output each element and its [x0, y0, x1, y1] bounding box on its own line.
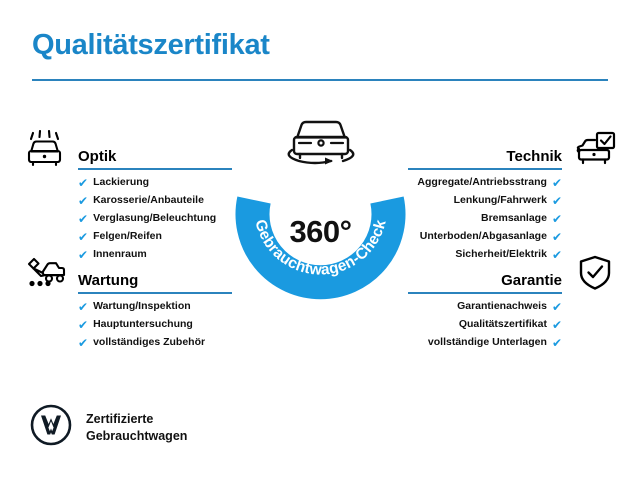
section-garantie-header: Garantie — [408, 252, 618, 294]
check-icon: ✔ — [78, 195, 88, 207]
check-icon: ✔ — [78, 301, 88, 313]
shield-check-icon — [572, 253, 618, 293]
list-item-label: Aggregate/Antriebsstrang — [417, 177, 547, 188]
section-garantie-list: Garantienachweis✔ Qualitätszertifikat✔ v… — [408, 301, 618, 349]
check-icon: ✔ — [78, 231, 88, 243]
list-item-label: Felgen/Reifen — [93, 231, 162, 242]
footer-line-2: Gebrauchtwagen — [86, 428, 187, 445]
section-garantie-divider — [408, 292, 562, 294]
list-item-label: Verglasung/Beleuchtung — [93, 213, 216, 224]
list-item: Lenkung/Fahrwerk✔ — [408, 195, 562, 207]
section-technik-title: Technik — [506, 149, 562, 169]
check-icon: ✔ — [552, 231, 562, 243]
list-item-label: Garantienachweis — [457, 301, 547, 312]
certificate-page: Qualitätszertifikat — [0, 0, 640, 480]
list-item: vollständige Unterlagen✔ — [408, 337, 562, 349]
check-icon: ✔ — [552, 301, 562, 313]
section-optik-list: ✔Lackierung ✔Karosserie/Anbauteile ✔Verg… — [22, 177, 232, 261]
section-optik-header: Optik — [22, 128, 232, 170]
section-garantie-title: Garantie — [501, 273, 562, 293]
list-item: Bremsanlage✔ — [408, 213, 562, 225]
check-icon: ✔ — [78, 319, 88, 331]
section-technik-divider — [408, 168, 562, 170]
header: Qualitätszertifikat — [32, 30, 608, 81]
section-optik-divider — [78, 168, 232, 170]
section-wartung-list: ✔Wartung/Inspektion ✔Hauptuntersuchung ✔… — [22, 301, 232, 349]
list-item: ✔Karosserie/Anbauteile — [78, 195, 232, 207]
list-item: ✔Verglasung/Beleuchtung — [78, 213, 232, 225]
list-item-label: vollständige Unterlagen — [428, 337, 547, 348]
section-wartung-title: Wartung — [78, 273, 232, 293]
list-item-label: vollständiges Zubehör — [93, 337, 205, 348]
list-item-label: Unterboden/Abgasanlage — [420, 231, 547, 242]
vw-logo-icon — [30, 404, 72, 451]
list-item: ✔Wartung/Inspektion — [78, 301, 232, 313]
list-item: ✔Felgen/Reifen — [78, 231, 232, 243]
car-shine-icon — [22, 129, 68, 169]
section-wartung: Wartung ✔Wartung/Inspektion ✔Hauptunters… — [22, 252, 232, 355]
section-technik-list: Aggregate/Antriebsstrang✔ Lenkung/Fahrwe… — [408, 177, 618, 261]
section-optik: Optik ✔Lackierung ✔Karosserie/Anbauteile… — [22, 128, 232, 267]
section-technik-header: Technik — [408, 128, 618, 170]
check-icon: ✔ — [552, 177, 562, 189]
list-item-label: Lenkung/Fahrwerk — [454, 195, 547, 206]
section-wartung-header: Wartung — [22, 252, 232, 294]
section-technik: Technik Aggregate/Antriebsstrang✔ Lenkun… — [408, 128, 618, 267]
list-item: Qualitätszertifikat✔ — [408, 319, 562, 331]
list-item-label: Bremsanlage — [481, 213, 547, 224]
list-item: ✔Lackierung — [78, 177, 232, 189]
page-title: Qualitätszertifikat — [32, 30, 608, 62]
list-item-label: Hauptuntersuchung — [93, 319, 193, 330]
car-checkbox-icon — [572, 129, 618, 169]
service-pen-car-icon — [22, 253, 68, 293]
check-icon: ✔ — [552, 337, 562, 349]
header-divider — [32, 79, 608, 81]
footer-line-1: Zertifizierte — [86, 411, 187, 428]
list-item-label: Wartung/Inspektion — [93, 301, 191, 312]
list-item-label: Karosserie/Anbauteile — [93, 195, 204, 206]
list-item: ✔Hauptuntersuchung — [78, 319, 232, 331]
list-item: Aggregate/Antriebsstrang✔ — [408, 177, 562, 189]
check-icon: ✔ — [552, 195, 562, 207]
section-optik-title: Optik — [78, 149, 232, 169]
section-garantie: Garantie Garantienachweis✔ Qualitätszert… — [408, 252, 618, 355]
check-icon: ✔ — [78, 177, 88, 189]
footer: Zertifizierte Gebrauchtwagen — [30, 404, 187, 451]
badge-360-check: Gebrauchtwagen-Check 360° — [228, 112, 413, 308]
footer-text: Zertifizierte Gebrauchtwagen — [86, 411, 187, 445]
list-item-label: Lackierung — [93, 177, 149, 188]
list-item: Unterboden/Abgasanlage✔ — [408, 231, 562, 243]
section-wartung-divider — [78, 292, 232, 294]
list-item: Garantienachweis✔ — [408, 301, 562, 313]
check-icon: ✔ — [552, 213, 562, 225]
list-item: ✔vollständiges Zubehör — [78, 337, 232, 349]
check-icon: ✔ — [78, 337, 88, 349]
check-icon: ✔ — [78, 213, 88, 225]
check-icon: ✔ — [552, 319, 562, 331]
list-item-label: Qualitätszertifikat — [459, 319, 547, 330]
badge-center-label: 360° — [228, 216, 413, 247]
